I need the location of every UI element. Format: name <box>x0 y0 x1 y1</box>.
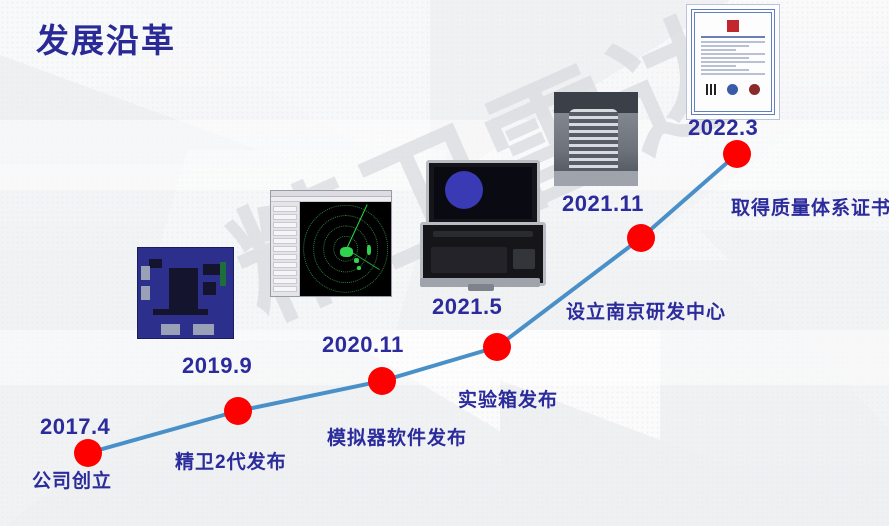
timeline-node-2020-11[interactable] <box>368 367 396 395</box>
timeline-node-2019-9[interactable] <box>224 397 252 425</box>
timeline-node-2021-11[interactable] <box>627 224 655 252</box>
milestone-label-2017-4: 公司创立 <box>32 466 112 493</box>
milestone-label-2021-11: 设立南京研发中心 <box>566 297 726 324</box>
milestone-label-2020-11: 模拟器软件发布 <box>327 423 467 450</box>
milestone-year-2022-3: 2022.3 <box>688 115 758 141</box>
timeline-node-2021-5[interactable] <box>483 333 511 361</box>
slide-canvas: 精卫雷达 发展沿革 <box>0 0 889 526</box>
milestone-year-2021-5: 2021.5 <box>432 294 502 320</box>
milestone-year-2021-11: 2021.11 <box>562 191 644 217</box>
timeline-node-2022-3[interactable] <box>723 140 751 168</box>
milestone-label-2022-3: 取得质量体系证书 <box>731 193 889 220</box>
milestone-year-2020-11: 2020.11 <box>322 332 404 358</box>
milestone-year-2017-4: 2017.4 <box>40 414 110 440</box>
milestone-label-2021-5: 实验箱发布 <box>458 385 558 412</box>
milestone-year-2019-9: 2019.9 <box>182 353 252 379</box>
timeline-node-2017-4[interactable] <box>74 439 102 467</box>
milestone-label-2019-9: 精卫2代发布 <box>175 447 287 474</box>
